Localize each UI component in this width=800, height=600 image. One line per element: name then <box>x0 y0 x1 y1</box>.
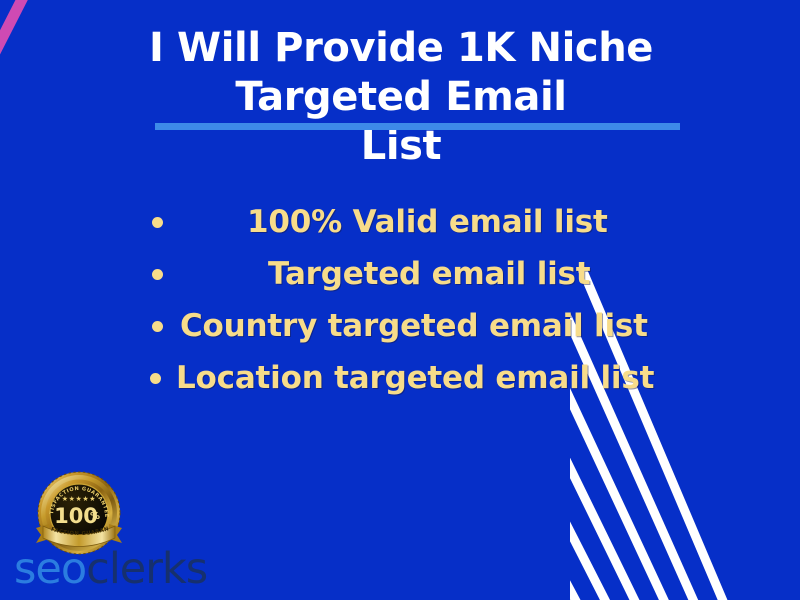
feature-list: 100% Valid email list Targeted email lis… <box>0 196 800 404</box>
logo-text-seo: seo <box>14 544 86 594</box>
bullet-dot-icon <box>150 373 161 384</box>
logo-text-clerks: clerks <box>86 544 207 594</box>
feature-label: 100% Valid email list <box>247 204 608 240</box>
feature-label: Targeted email list <box>268 256 590 292</box>
promo-banner: I Will Provide 1K Niche Targeted Email L… <box>0 0 800 600</box>
list-item: Targeted email list <box>0 248 800 300</box>
list-item: Location targeted email list <box>0 352 800 404</box>
badge-percent-symbol: % <box>90 511 100 522</box>
bullet-dot-icon <box>152 217 163 228</box>
feature-label: Country targeted email list <box>180 308 648 344</box>
title-underline-rule <box>155 123 680 130</box>
badge-stars: ★★★★★ <box>62 495 96 503</box>
bullet-dot-icon <box>152 321 163 332</box>
headline-block: I Will Provide 1K Niche Targeted Email L… <box>46 24 756 170</box>
bullet-dot-icon <box>152 269 163 280</box>
seoclerks-logo: seoclerks <box>14 548 207 591</box>
page-title: I Will Provide 1K Niche Targeted Email L… <box>46 24 756 170</box>
feature-label: Location targeted email list <box>176 360 654 396</box>
list-item: 100% Valid email list <box>0 196 800 248</box>
list-item: Country targeted email list <box>0 300 800 352</box>
